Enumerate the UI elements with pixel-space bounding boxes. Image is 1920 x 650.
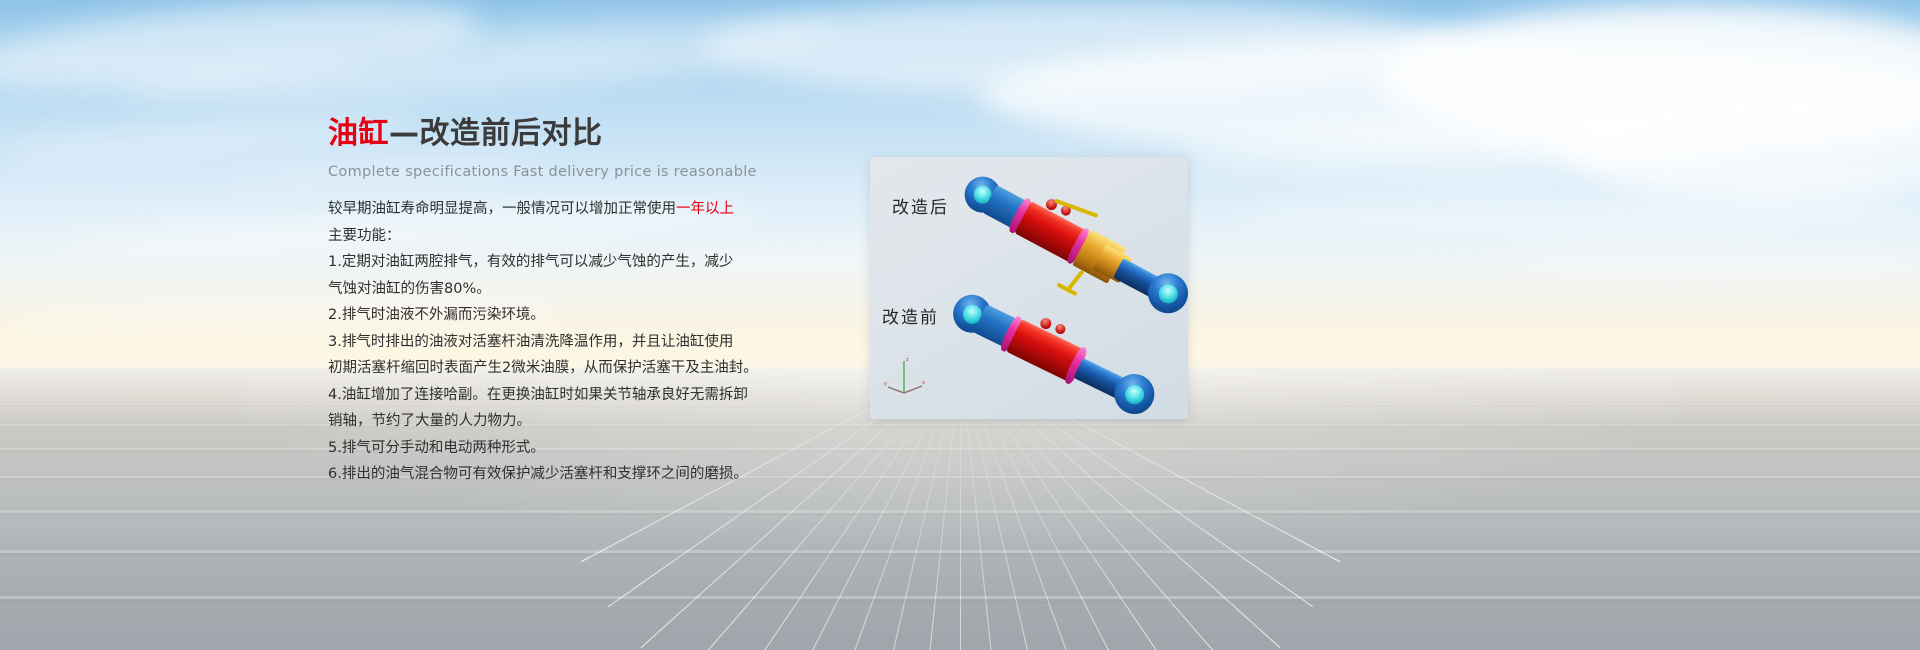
feature-line: 1.定期对油缸两腔排气，有效的排气可以减少气蚀的产生，减少 (328, 249, 758, 276)
svg-text:z: z (906, 357, 909, 363)
hero-banner: 油缸—改造前后对比 Complete specifications Fast d… (0, 0, 1920, 650)
feature-line: 3.排气时排出的油液对活塞杆油清洗降温作用，并且让油缸使用 (328, 329, 758, 356)
comparison-image-panel: 改造后 改造前 (870, 157, 1188, 419)
page-title: 油缸—改造前后对比 (328, 108, 603, 152)
feature-line: 5.排气可分手动和电动两种形式。 (328, 435, 758, 462)
label-after-modification: 改造后 (892, 193, 949, 218)
banner-content: 油缸—改造前后对比 Complete specifications Fast d… (0, 0, 1920, 650)
feature-line-text: 初期活塞杆缩回时表面产生2微米油膜，从而保护活塞干及主油封。 (328, 360, 758, 376)
feature-line-text: 4.油缸增加了连接哈副。在更换油缸时如果关节轴承良好无需拆卸 (328, 387, 748, 403)
feature-line-text: 6.排出的油气混合物可有效保护减少活塞杆和支撑环之间的磨损。 (328, 466, 748, 482)
feature-line-text: 5.排气可分手动和电动两种形式。 (328, 440, 545, 456)
coordinate-axis-icon: z y x (884, 353, 928, 397)
feature-line-text: 较早期油缸寿命明显提高，一般情况可以增加正常使用 (328, 201, 676, 217)
feature-line: 较早期油缸寿命明显提高，一般情况可以增加正常使用一年以上 (328, 196, 758, 223)
feature-line: 2.排气时油液不外漏而污染环境。 (328, 302, 758, 329)
title-highlight: 油缸 (328, 116, 389, 151)
feature-line-highlight: 一年以上 (676, 201, 734, 217)
svg-text:x: x (922, 380, 925, 386)
feature-line-text: 气蚀对油缸的伤害80%。 (328, 281, 491, 297)
label-before-modification: 改造前 (882, 303, 939, 328)
feature-line-text: 主要功能： (328, 228, 401, 244)
page-subtitle: Complete specifications Fast delivery pr… (328, 164, 757, 180)
feature-line: 销轴，节约了大量的人力物力。 (328, 408, 758, 435)
feature-line-text: 3.排气时排出的油液对活塞杆油清洗降温作用，并且让油缸使用 (328, 334, 733, 350)
feature-line: 主要功能： (328, 223, 758, 250)
feature-line: 气蚀对油缸的伤害80%。 (328, 276, 758, 303)
feature-line: 6.排出的油气混合物可有效保护减少活塞杆和支撑环之间的磨损。 (328, 461, 758, 488)
feature-line-text: 销轴，节约了大量的人力物力。 (328, 413, 531, 429)
barrel-lug (1054, 322, 1067, 335)
feature-line-text: 2.排气时油液不外漏而污染环境。 (328, 307, 545, 323)
feature-line: 初期活塞杆缩回时表面产生2微米油膜，从而保护活塞干及主油封。 (328, 355, 758, 382)
title-rest: —改造前后对比 (389, 116, 603, 151)
feature-line: 4.油缸增加了连接哈副。在更换油缸时如果关节轴承良好无需拆卸 (328, 382, 758, 409)
feature-description: 较早期油缸寿命明显提高，一般情况可以增加正常使用一年以上主要功能：1.定期对油缸… (328, 196, 758, 488)
feature-line-text: 1.定期对油缸两腔排气，有效的排气可以减少气蚀的产生，减少 (328, 254, 733, 270)
svg-text:y: y (884, 381, 887, 387)
